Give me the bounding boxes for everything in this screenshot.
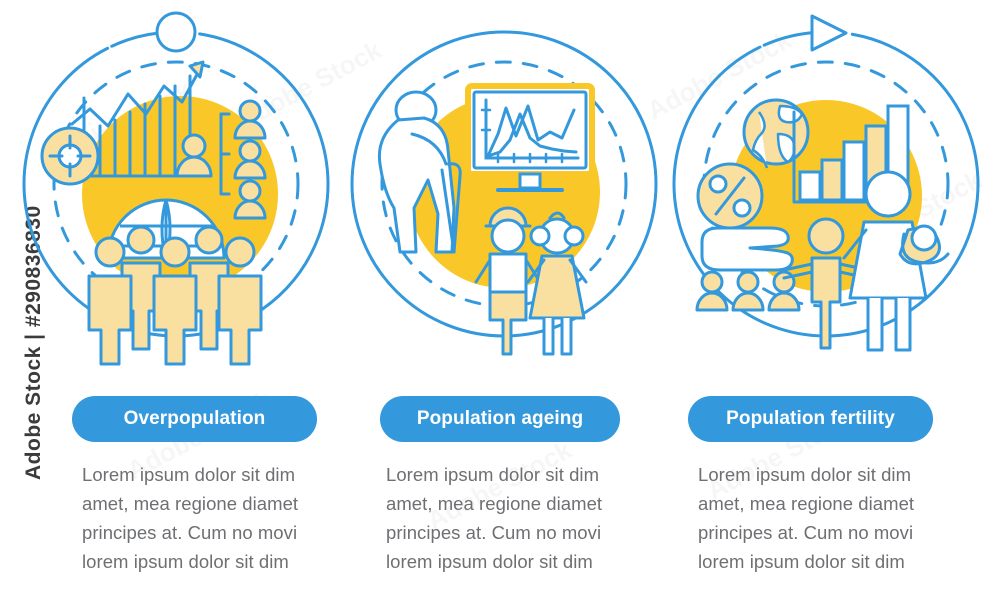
population-ageing-art <box>338 14 671 364</box>
infographic-canvas: Adobe Stock Adobe Stock Adobe Stock Adob… <box>0 0 1000 601</box>
illustration-population-ageing <box>338 14 671 364</box>
steps-container: Overpopulation Lorem ipsum dolor sit dim… <box>0 0 1000 601</box>
triangle-marker-icon <box>812 16 846 50</box>
step-label-population-fertility[interactable]: Population fertility <box>688 396 933 442</box>
monitor-line-chart-icon <box>468 86 592 190</box>
person-icon <box>733 272 763 310</box>
step-column-overpopulation: Overpopulation Lorem ipsum dolor sit dim… <box>10 0 343 601</box>
step-description-overpopulation: Lorem ipsum dolor sit dim amet, mea regi… <box>82 460 332 576</box>
overpopulation-art <box>10 14 343 364</box>
step-description-population-fertility: Lorem ipsum dolor sit dim amet, mea regi… <box>698 460 948 576</box>
illustration-overpopulation <box>10 14 343 364</box>
crowd-of-people-icon <box>89 227 261 364</box>
step-column-population-ageing: Population ageing Lorem ipsum dolor sit … <box>338 0 671 601</box>
step-description-population-ageing: Lorem ipsum dolor sit dim amet, mea regi… <box>386 460 636 576</box>
step-label-overpopulation[interactable]: Overpopulation <box>72 396 317 442</box>
step-label-population-ageing[interactable]: Population ageing <box>380 396 620 442</box>
person-icon <box>697 272 727 310</box>
percent-icon <box>698 164 762 228</box>
illustration-population-fertility <box>660 14 993 364</box>
circle-marker-icon <box>157 13 195 51</box>
target-crosshair-icon <box>42 128 98 184</box>
step-column-population-fertility: Population fertility Lorem ipsum dolor s… <box>660 0 993 601</box>
population-fertility-art <box>660 14 993 364</box>
